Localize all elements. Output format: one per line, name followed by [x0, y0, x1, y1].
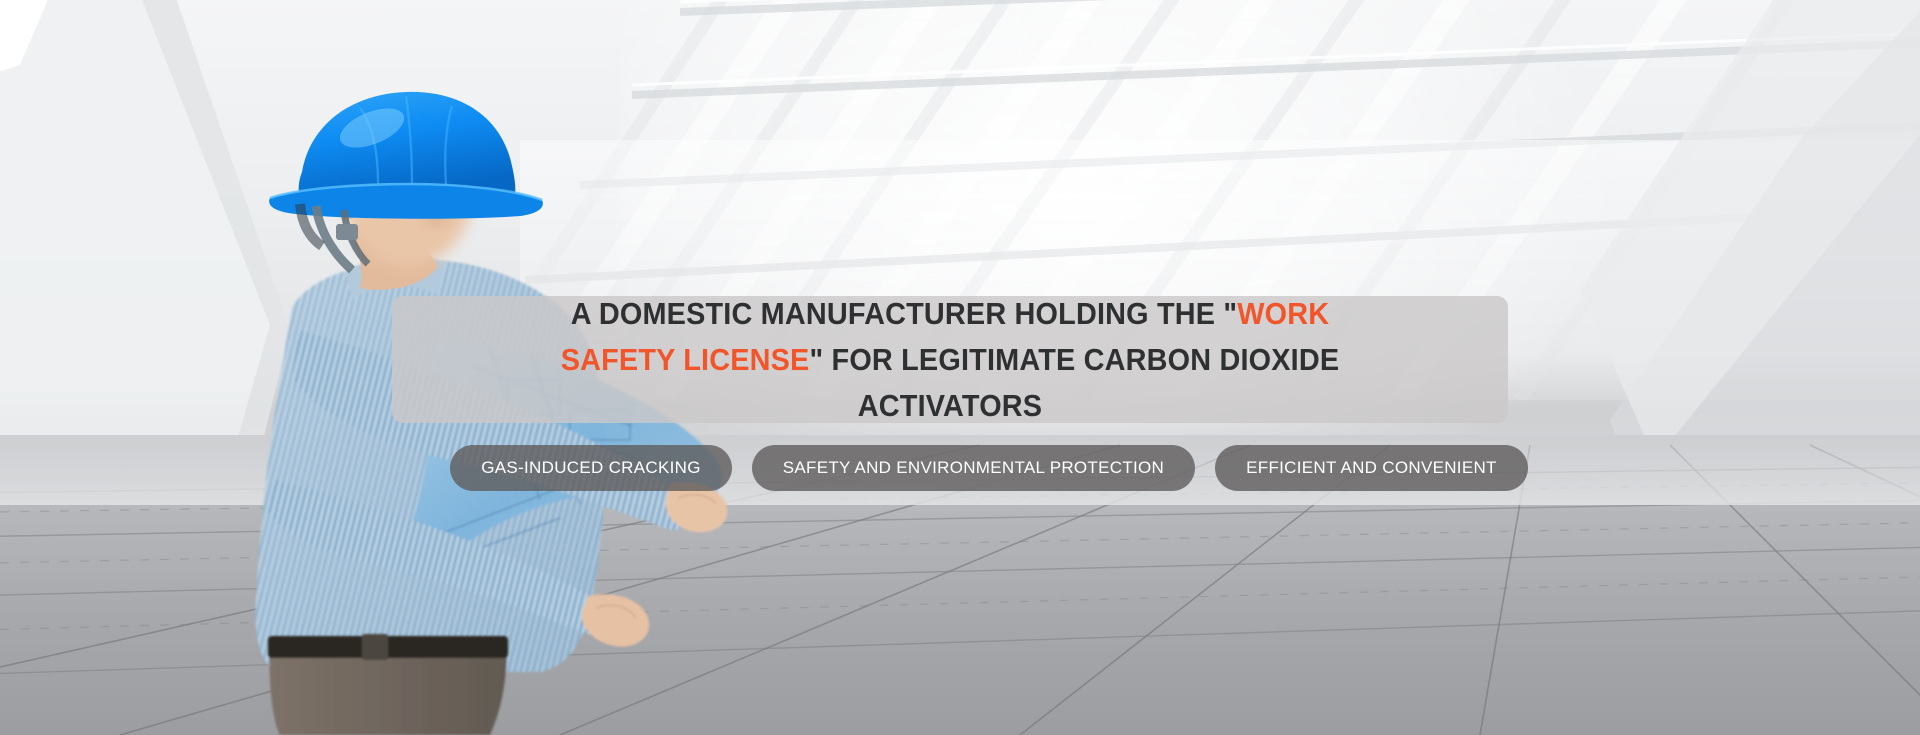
pill-gas-induced-cracking[interactable]: GAS-INDUCED CRACKING	[450, 445, 731, 491]
pill-efficient-and-convenient[interactable]: EFFICIENT AND CONVENIENT	[1215, 445, 1528, 491]
page-title: A DOMESTIC MANUFACTURER HOLDING THE "WOR…	[514, 291, 1386, 429]
headline-segment-3: " FOR LEGITIMATE CARBON DIOXIDE ACTIVATO…	[809, 342, 1339, 423]
pill-safety-and-environmental-protection[interactable]: SAFETY AND ENVIRONMENTAL PROTECTION	[752, 445, 1195, 491]
feature-pill-row: GAS-INDUCED CRACKING SAFETY AND ENVIRONM…	[0, 445, 1920, 491]
hero-banner: A DOMESTIC MANUFACTURER HOLDING THE "WOR…	[0, 0, 1920, 735]
headline-panel: A DOMESTIC MANUFACTURER HOLDING THE "WOR…	[392, 296, 1508, 423]
headline-segment-1: A DOMESTIC MANUFACTURER HOLDING THE "	[571, 296, 1238, 331]
